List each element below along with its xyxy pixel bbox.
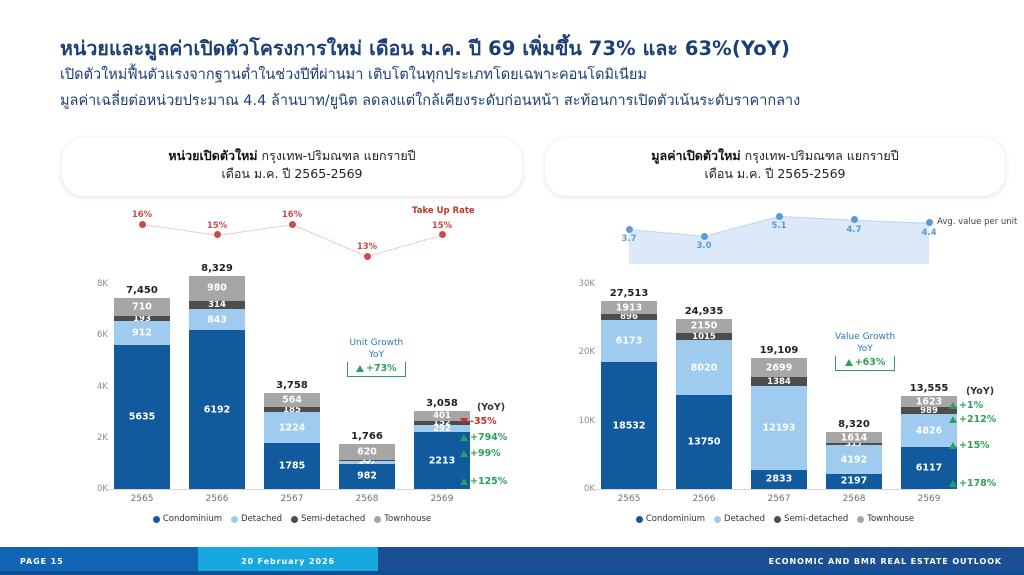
legend-label: Condominium bbox=[163, 514, 222, 524]
growth-callout-subtitle: YoY bbox=[347, 350, 406, 362]
legend-color-swatch bbox=[291, 516, 298, 523]
bar-total-label: 1,766 bbox=[339, 431, 395, 442]
y-axis-tick: 8K bbox=[84, 279, 108, 289]
growth-callout-value: +63% bbox=[835, 356, 895, 371]
overlay-value-label: 15% bbox=[422, 221, 462, 231]
bar-segment-semi-detached: 314 bbox=[189, 301, 245, 309]
growth-callout-value: +73% bbox=[347, 362, 406, 377]
segment-value: 6192 bbox=[189, 404, 245, 415]
overlay-marker bbox=[439, 231, 446, 238]
avg-value-per-unit-label: Avg. value per unit bbox=[937, 217, 1017, 227]
bar-segment-townhouse: 980 bbox=[189, 276, 245, 301]
segment-value: 1785 bbox=[264, 461, 320, 472]
y-axis-tick: 4K bbox=[84, 382, 108, 392]
overlay-marker bbox=[776, 213, 783, 220]
footer-page: PAGE 15 bbox=[20, 557, 64, 566]
x-axis-tick-2566: 2566 bbox=[189, 494, 245, 504]
legend-label: Detached bbox=[241, 514, 282, 524]
panel-value-subtitle: เดือน ม.ค. ปี 2565-2569 bbox=[545, 165, 1005, 183]
bar-segment-condominium: 6192 bbox=[189, 330, 245, 489]
bar-segment-townhouse: 564 bbox=[264, 393, 320, 407]
yoy-row: +212% bbox=[949, 414, 996, 425]
chart-legend: CondominiumDetachedSemi-detachedTownhous… bbox=[62, 514, 522, 524]
yoy-row: +99% bbox=[460, 448, 501, 459]
chart-value: 0K10K20K30K185326173896191327,5132565137… bbox=[545, 196, 1005, 536]
chart-legend: CondominiumDetachedSemi-detachedTownhous… bbox=[545, 514, 1005, 524]
segment-value: 843 bbox=[189, 314, 245, 325]
yoy-column: (YoY) bbox=[460, 402, 522, 413]
panel-value-text: มูลค่าเปิดตัวใหม่ กรุงเทพ-ปริมณฑล แยกราย… bbox=[545, 138, 1005, 183]
page-title: หน่วยและมูลค่าเปิดตัวโครงการใหม่ เดือน ม… bbox=[60, 36, 990, 61]
growth-callout: Value GrowthYoY+63% bbox=[835, 332, 895, 371]
overlay-value-label: 4.7 bbox=[834, 225, 874, 235]
legend-item: Semi-detached bbox=[774, 514, 848, 524]
slide-header: หน่วยและมูลค่าเปิดตัวโครงการใหม่ เดือน ม… bbox=[60, 36, 990, 112]
bar-2566: 6192843314980 bbox=[189, 276, 245, 489]
page-subtitle-2: มูลค่าเฉลี่ยต่อหน่วยประมาณ 4.4 ล้านบาท/ย… bbox=[60, 90, 990, 112]
overlay-value-label: 3.0 bbox=[684, 241, 724, 251]
overlay-value-label: 15% bbox=[197, 221, 237, 231]
bar-segment-detached: 843 bbox=[189, 309, 245, 331]
legend-item: Semi-detached bbox=[291, 514, 365, 524]
yoy-direction-icon bbox=[949, 416, 957, 423]
y-axis-tick: 6K bbox=[84, 330, 108, 340]
x-axis-tick-2569: 2569 bbox=[414, 494, 470, 504]
legend-color-swatch bbox=[714, 516, 721, 523]
panel-units-title-rest: กรุงเทพ-ปริมณฑล แยกรายปี bbox=[258, 148, 416, 163]
legend-item: Condominium bbox=[153, 514, 222, 524]
y-axis-tick: 0K bbox=[84, 484, 108, 494]
legend-item: Condominium bbox=[636, 514, 705, 524]
bar-segment-semi-detached: 193 bbox=[114, 316, 170, 321]
yoy-row: -35% bbox=[460, 416, 497, 427]
panel-header-value: มูลค่าเปิดตัวใหม่ กรุงเทพ-ปริมณฑล แยกราย… bbox=[545, 138, 1005, 196]
legend-item: Detached bbox=[231, 514, 282, 524]
bar-segment-condominium: 982 bbox=[339, 464, 395, 489]
segment-value: 314 bbox=[189, 300, 245, 310]
overlay-value-label: 4.4 bbox=[909, 228, 949, 238]
legend-color-swatch bbox=[231, 516, 238, 523]
footer-date: 20 February 2026 bbox=[241, 557, 335, 566]
bar-2565: 5635912193710 bbox=[114, 298, 170, 489]
take-up-rate-label: Take Up Rate bbox=[412, 206, 472, 217]
bar-segment-detached: 1224 bbox=[264, 412, 320, 443]
overlay-marker bbox=[701, 233, 708, 240]
legend-item: Townhouse bbox=[857, 514, 914, 524]
segment-value: 620 bbox=[339, 446, 395, 457]
legend-label: Detached bbox=[724, 514, 765, 524]
bar-total-label: 3,758 bbox=[264, 380, 320, 391]
take-up-rate-title: Take Up Rate bbox=[412, 206, 472, 217]
overlay-marker bbox=[926, 219, 933, 226]
yoy-column: (YoY) bbox=[949, 386, 1011, 397]
panel-units-title-bold: หน่วยเปิดตัวใหม่ bbox=[168, 148, 257, 163]
legend-color-swatch bbox=[774, 516, 781, 523]
footer-brand: ECONOMIC AND BMR REAL ESTATE OUTLOOK bbox=[769, 557, 1002, 566]
yoy-direction-icon bbox=[460, 434, 468, 441]
growth-callout-title: Unit Growth bbox=[347, 338, 406, 350]
growth-callout: Unit GrowthYoY+73% bbox=[347, 338, 406, 377]
legend-label: Semi-detached bbox=[784, 514, 848, 524]
x-axis-tick-2567: 2567 bbox=[264, 494, 320, 504]
overlay-marker bbox=[851, 216, 858, 223]
legend-label: Townhouse bbox=[384, 514, 431, 524]
overlay-marker bbox=[139, 221, 146, 228]
x-axis-tick-2568: 2568 bbox=[339, 494, 395, 504]
yoy-row: +125% bbox=[460, 476, 507, 487]
yoy-direction-icon bbox=[949, 402, 957, 409]
segment-value: 912 bbox=[114, 327, 170, 338]
slide-root: หน่วยและมูลค่าเปิดตัวโครงการใหม่ เดือน ม… bbox=[0, 0, 1024, 575]
panel-header-units: หน่วยเปิดตัวใหม่ กรุงเทพ-ปริมณฑล แยกรายป… bbox=[62, 138, 522, 196]
legend-color-swatch bbox=[374, 516, 381, 523]
x-axis-line bbox=[106, 489, 446, 490]
overlay-value-label: 5.1 bbox=[759, 221, 799, 231]
yoy-column-title: (YoY) bbox=[949, 386, 1011, 397]
growth-callout-title: Value Growth bbox=[835, 332, 895, 344]
legend-item: Detached bbox=[714, 514, 765, 524]
legend-item: Townhouse bbox=[374, 514, 431, 524]
overlay-value-label: 16% bbox=[272, 210, 312, 220]
panel-units-subtitle: เดือน ม.ค. ปี 2565-2569 bbox=[62, 165, 522, 183]
bar-segment-detached: 912 bbox=[114, 321, 170, 344]
segment-value: 5635 bbox=[114, 411, 170, 422]
overlay-marker bbox=[289, 221, 296, 228]
bar-total-label: 7,450 bbox=[114, 285, 170, 296]
panel-value-title-rest: กรุงเทพ-ปริมณฑล แยกรายปี bbox=[741, 148, 899, 163]
overlay-value-label: 16% bbox=[122, 210, 162, 220]
yoy-direction-icon bbox=[949, 442, 957, 449]
yoy-row: +15% bbox=[949, 440, 990, 451]
segment-value: 710 bbox=[114, 302, 170, 313]
overlay-marker bbox=[214, 231, 221, 238]
bar-2567: 17851224185564 bbox=[264, 393, 320, 489]
overlay-value-label: 3.7 bbox=[609, 234, 649, 244]
overlay-marker bbox=[364, 253, 371, 260]
yoy-direction-icon bbox=[460, 478, 468, 485]
yoy-row: +794% bbox=[460, 432, 507, 443]
legend-label: Condominium bbox=[646, 514, 705, 524]
segment-value: 1224 bbox=[264, 422, 320, 433]
panel-value-title-bold: มูลค่าเปิดตัวใหม่ bbox=[651, 148, 740, 163]
bar-segment-townhouse: 710 bbox=[114, 298, 170, 316]
y-axis-tick: 2K bbox=[84, 433, 108, 443]
chart-units: 0K2K4K6K8K56359121937107,450256561928433… bbox=[62, 196, 522, 536]
avg-value-area bbox=[545, 196, 1005, 536]
bar-total-label: 8,329 bbox=[189, 263, 245, 274]
growth-direction-icon bbox=[356, 365, 364, 372]
segment-value: 982 bbox=[339, 471, 395, 482]
segment-value: 564 bbox=[264, 394, 320, 405]
legend-label: Semi-detached bbox=[301, 514, 365, 524]
bar-segment-semi-detached: 185 bbox=[264, 407, 320, 412]
page-subtitle-1: เปิดตัวใหม่ฟื้นตัวแรงจากฐานต่ำในช่วงปีที… bbox=[60, 64, 990, 86]
growth-callout-subtitle: YoY bbox=[835, 344, 895, 356]
yoy-direction-icon bbox=[949, 480, 957, 487]
yoy-direction-icon bbox=[460, 418, 468, 425]
growth-direction-icon bbox=[845, 359, 853, 366]
yoy-row: +178% bbox=[949, 478, 996, 489]
yoy-direction-icon bbox=[460, 450, 468, 457]
overlay-marker bbox=[626, 226, 633, 233]
segment-value: 980 bbox=[189, 283, 245, 294]
bar-2568: 98214717620 bbox=[339, 444, 395, 489]
bar-segment-condominium: 5635 bbox=[114, 345, 170, 489]
legend-label: Townhouse bbox=[867, 514, 914, 524]
panel-units-text: หน่วยเปิดตัวใหม่ กรุงเทพ-ปริมณฑล แยกรายป… bbox=[62, 138, 522, 183]
bar-segment-townhouse: 620 bbox=[339, 444, 395, 460]
legend-color-swatch bbox=[857, 516, 864, 523]
yoy-row: +1% bbox=[949, 400, 983, 411]
x-axis-tick-2565: 2565 bbox=[114, 494, 170, 504]
legend-color-swatch bbox=[636, 516, 643, 523]
legend-color-swatch bbox=[153, 516, 160, 523]
overlay-value-label: 13% bbox=[347, 242, 387, 252]
footer-accent-bar bbox=[0, 571, 1024, 575]
yoy-column-title: (YoY) bbox=[460, 402, 522, 413]
bar-segment-condominium: 1785 bbox=[264, 443, 320, 489]
